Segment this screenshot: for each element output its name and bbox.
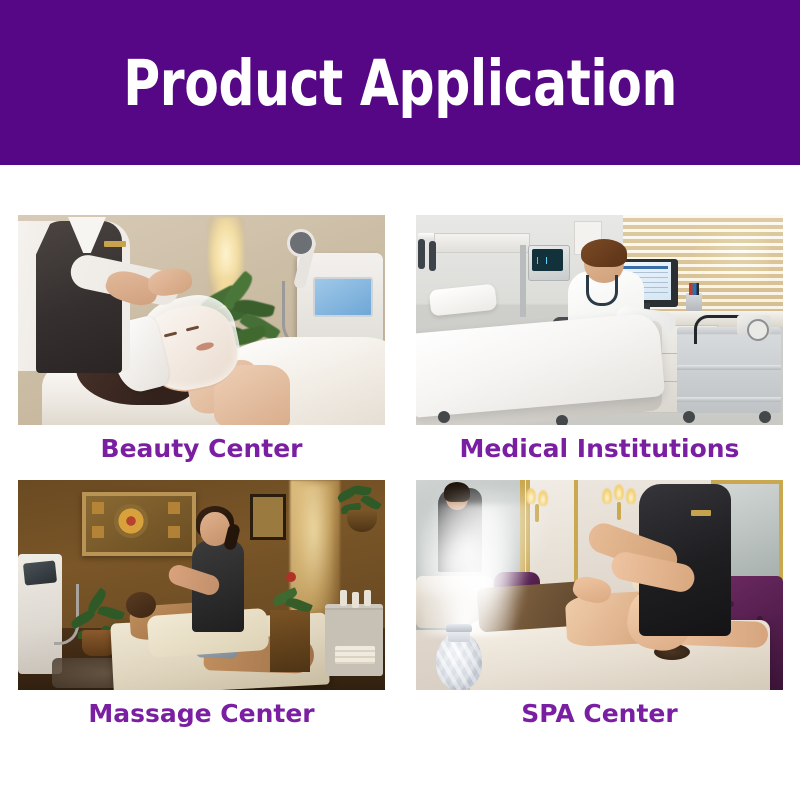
mc-client-head (126, 592, 156, 618)
mi-doctor-hair (581, 239, 627, 267)
photo-medical-institutions (416, 215, 783, 425)
mc-art-tile (92, 502, 104, 514)
caption-spa-center: SPA Center (416, 690, 783, 738)
sp-steam-plume (422, 504, 530, 636)
sp-diffuser-cap (446, 624, 472, 632)
mc-oil-bottle (340, 590, 347, 606)
mi-cart-wheel (683, 411, 695, 423)
mi-cart-shelf (677, 365, 781, 370)
application-card-spa-center[interactable]: SPA Center (416, 480, 783, 738)
mc-oil-bottle (364, 590, 371, 606)
mc-folded-towels (335, 646, 375, 664)
mi-iv-pole (520, 245, 526, 317)
photo-beauty-center (18, 215, 385, 425)
mc-art-tile (92, 526, 104, 538)
sp-wall-sconce-icon (602, 484, 636, 524)
sp-therapist-name-badge (691, 510, 711, 516)
mc-art-flower-motif (114, 504, 148, 538)
bc-handpiece-tip (287, 229, 315, 257)
mc-oil-bottle (352, 592, 359, 608)
mi-pens (689, 283, 699, 295)
mi-bed-wheel (556, 415, 568, 425)
page-title: Product Application (123, 52, 677, 115)
product-application-page: Product Application (0, 0, 800, 800)
caption-beauty-center: Beauty Center (18, 425, 385, 473)
mi-bp-tubing (694, 315, 741, 344)
header-banner: Product Application (0, 0, 800, 165)
mi-otoscope-icon (418, 239, 438, 283)
mi-ecg-trace (534, 257, 561, 264)
bc-name-badge (104, 241, 126, 247)
mc-small-frame (250, 494, 286, 540)
mi-wall-cabinet (434, 233, 530, 253)
mc-machine-screen (23, 560, 57, 585)
mi-pen-cup (686, 293, 702, 311)
application-card-beauty-center[interactable]: Beauty Center (18, 215, 385, 473)
mc-art-tile (168, 502, 180, 514)
photo-massage-center (18, 480, 385, 690)
mi-cart-shelf (677, 397, 781, 402)
mc-supply-cart (325, 604, 383, 676)
mc-vase-plant-icon (272, 576, 310, 616)
mi-bp-gauge-icon (747, 319, 769, 341)
application-card-massage-center[interactable]: Massage Center (18, 480, 385, 738)
caption-medical-institutions: Medical Institutions (416, 425, 783, 473)
mc-art-tile (168, 526, 180, 538)
application-card-medical-institutions[interactable]: Medical Institutions (416, 215, 783, 473)
caption-massage-center: Massage Center (18, 690, 385, 738)
application-grid: Beauty Center (18, 215, 783, 738)
mi-stethoscope-icon (586, 275, 618, 306)
mi-cart-wheel (759, 411, 771, 423)
mc-rose-icon (286, 572, 296, 582)
photo-spa-center (416, 480, 783, 690)
mi-bed-wheel (438, 411, 450, 423)
mc-side-table (270, 610, 310, 672)
